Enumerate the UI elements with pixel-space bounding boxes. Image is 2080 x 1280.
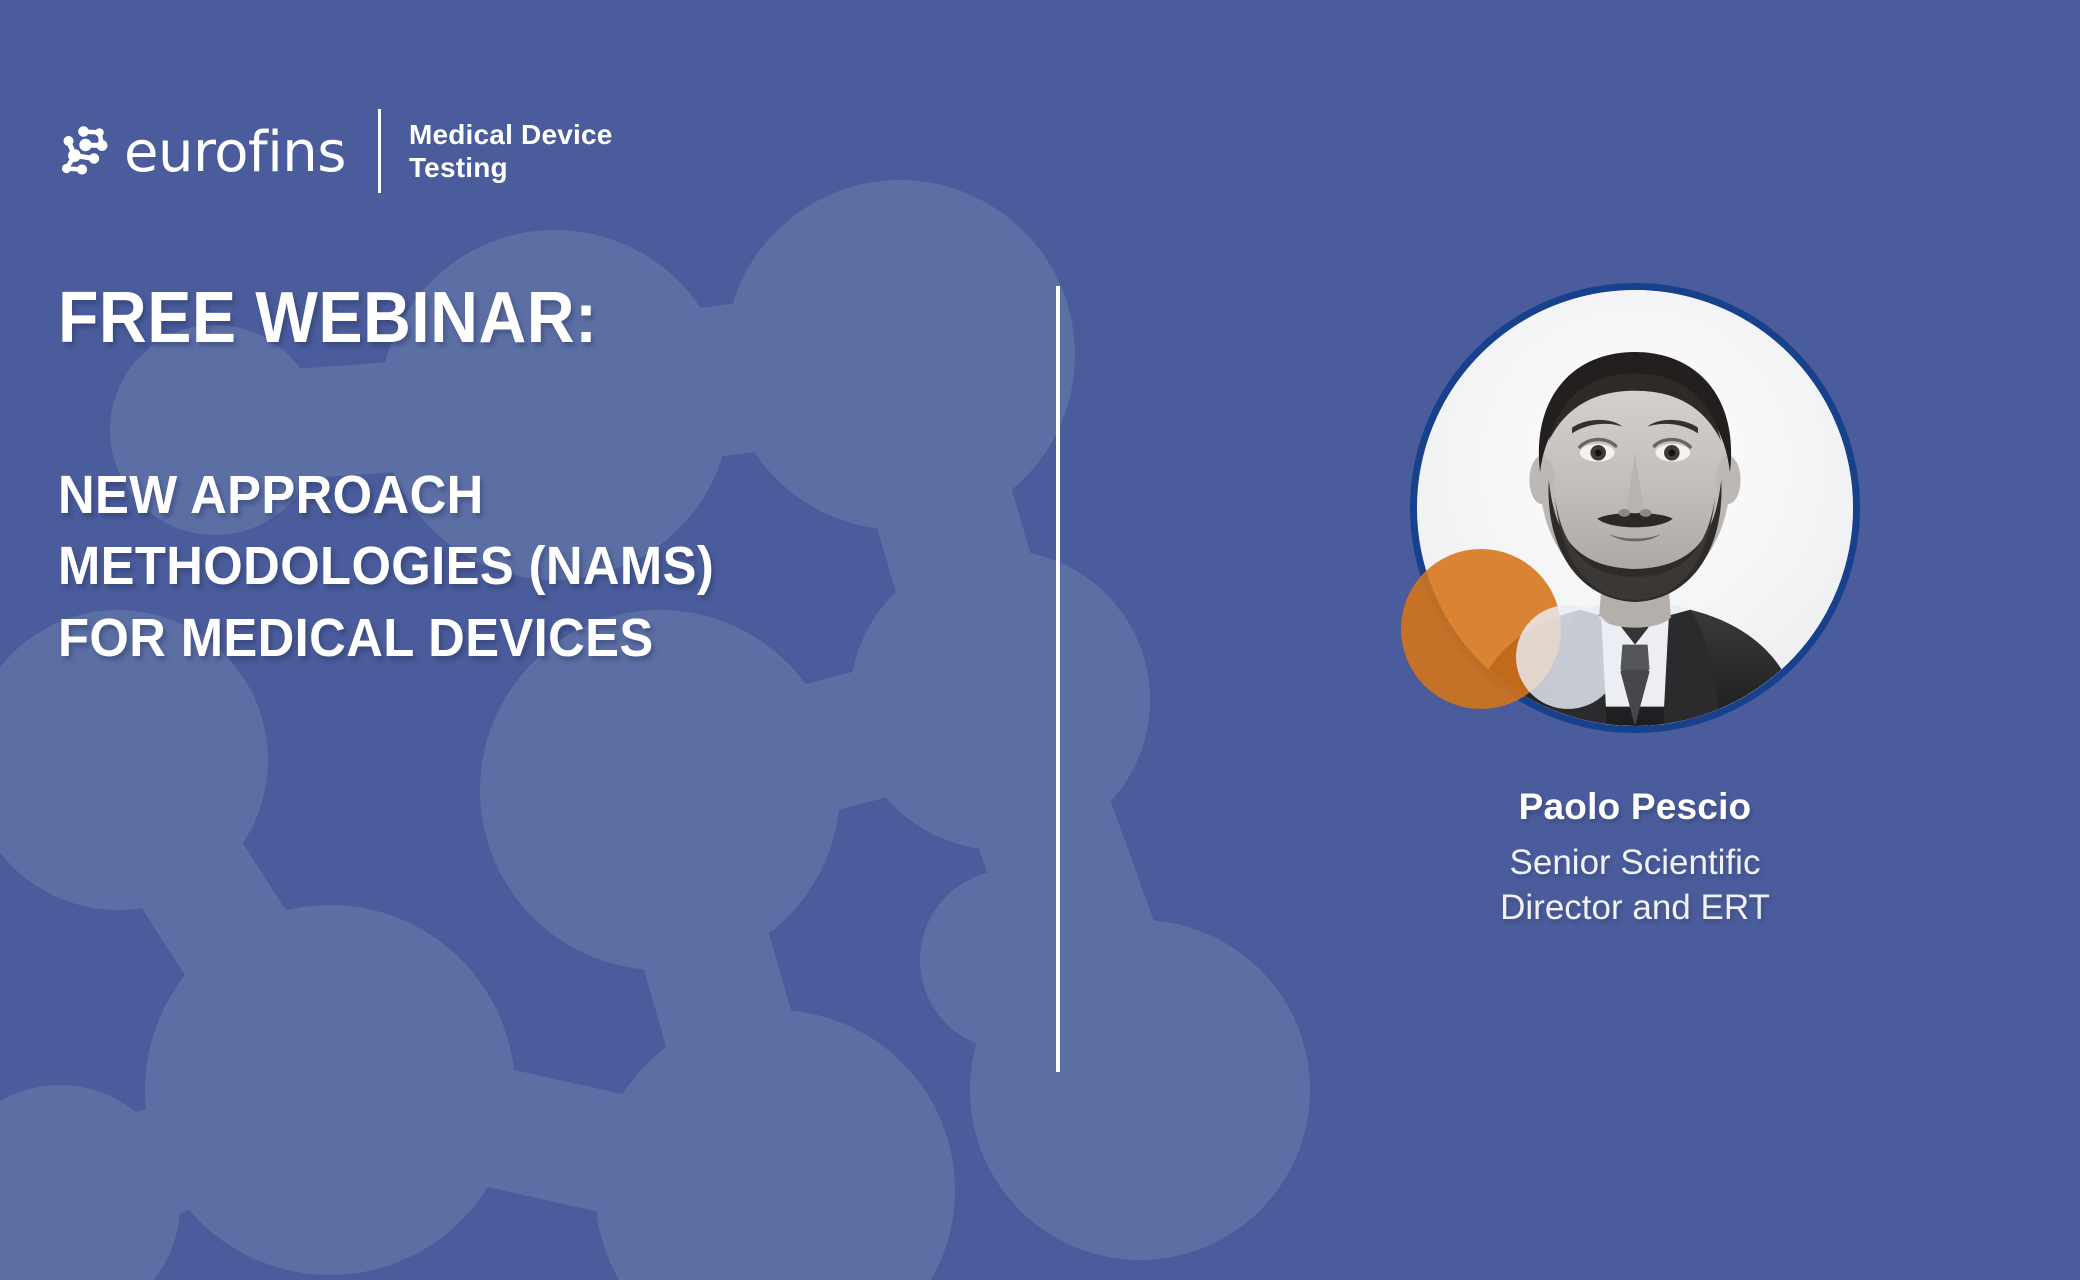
speaker-role-line-2: Director and ERT <box>1330 886 1940 931</box>
vertical-separator <box>1056 286 1060 1072</box>
speaker-portrait-wrap <box>1410 283 1860 733</box>
accent-circle-light <box>1516 605 1620 709</box>
speaker-role: Senior Scientific Director and ERT <box>1330 841 1940 931</box>
eurofins-molecule-icon <box>58 125 110 177</box>
webinar-eyebrow: FREE WEBINAR: <box>58 282 904 354</box>
webinar-title-line-2: METHODOLOGIES (NAMS) <box>58 531 923 602</box>
headline-block: FREE WEBINAR: NEW APPROACH METHODOLOGIES… <box>58 282 978 674</box>
webinar-title: NEW APPROACH METHODOLOGIES (NAMS) FOR ME… <box>58 460 923 674</box>
brand-division-name: Medical Device Testing <box>409 118 613 184</box>
webinar-title-line-1: NEW APPROACH <box>58 460 923 531</box>
speaker-block: Paolo Pescio Senior Scientific Director … <box>1330 283 1940 931</box>
speaker-name: Paolo Pescio <box>1330 785 1940 829</box>
brand-wordmark: eurofins <box>124 125 346 181</box>
speaker-role-line-1: Senior Scientific <box>1330 841 1940 886</box>
webinar-banner: eurofins Medical Device Testing FREE WEB… <box>0 0 2080 1280</box>
division-line-2: Testing <box>409 152 508 183</box>
logo-divider <box>378 109 381 193</box>
brand-logo-lockup: eurofins Medical Device Testing <box>58 105 613 197</box>
division-line-1: Medical Device <box>409 119 613 150</box>
webinar-title-line-3: FOR MEDICAL DEVICES <box>58 603 923 674</box>
